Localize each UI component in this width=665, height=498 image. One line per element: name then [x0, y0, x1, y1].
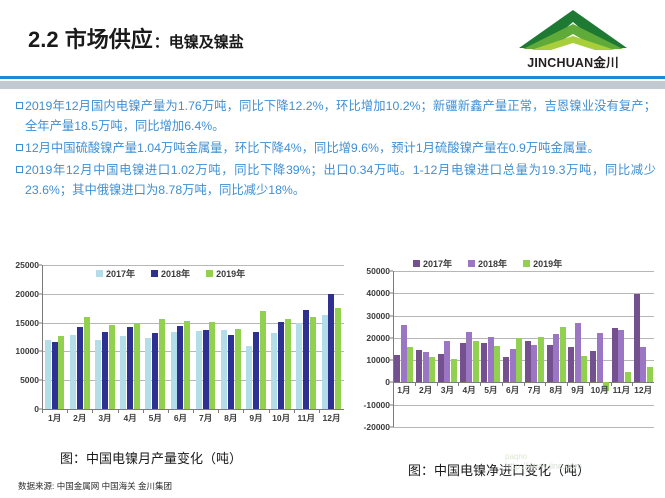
bullet-square-icon: [16, 144, 23, 151]
y-axis-tick-label: 15000: [15, 318, 39, 328]
bar: [401, 325, 407, 382]
bar: [510, 349, 516, 383]
bar: [303, 310, 309, 409]
plot-area: 0500010000150002000025000: [42, 265, 344, 409]
bar: [625, 372, 631, 382]
jinchuan-logo: JINCHUAN金川: [503, 8, 643, 70]
y-axis-tick-label: 20000: [15, 289, 39, 299]
data-source-note: 数据来源: 中国金属网 中国海关 金川集团: [18, 480, 172, 492]
bar: [184, 321, 190, 409]
x-axis-tick-label: 6月: [502, 384, 524, 396]
chart-legend: 2017年2018年2019年: [413, 257, 562, 270]
y-axis-tick-label: 50000: [366, 266, 390, 276]
x-axis-tick-label: 6月: [168, 412, 193, 424]
legend-item: 2018年: [151, 267, 190, 280]
bar: [278, 322, 284, 409]
bar: [152, 333, 158, 409]
plot-area: -20000-1000001000020000300004000050000: [393, 271, 654, 427]
y-axis-tick-label: 25000: [15, 260, 39, 270]
x-axis-tick-label: 8月: [218, 412, 243, 424]
bar: [438, 354, 444, 382]
bar: [460, 343, 466, 383]
bar: [177, 326, 183, 409]
bullet-text: 12月中国硫酸镍产量1.04万吨金属量，环比下降4%，同比增9.6%，预计1月硫…: [25, 138, 600, 158]
bullet-text: 2019年12月中国电镍进口1.02万吨，同比下降39%；出口0.34万吨。1-…: [25, 160, 656, 200]
x-axis-tick-label: 10月: [269, 412, 294, 424]
bar: [102, 332, 108, 409]
bar: [310, 317, 316, 409]
y-axis-line: [393, 271, 394, 427]
bullet-square-icon: [16, 166, 23, 173]
y-axis-tick-label: -10000: [364, 400, 390, 410]
x-axis-tick-label: 10月: [589, 384, 611, 396]
y-axis-tick-label: 5000: [20, 375, 39, 385]
page-title-main: 2.2 市场供应: [28, 22, 153, 54]
bullet-text: 2019年12月国内电镍产量为1.76万吨，同比下降12.2%，环比增加10.2…: [25, 96, 656, 136]
gridline: [393, 405, 654, 406]
legend-item: 2017年: [413, 257, 452, 270]
bar: [109, 325, 115, 409]
page-title: 2.2 市场供应 ：电镍及镍盐: [28, 22, 244, 54]
bar: [58, 336, 64, 409]
x-axis-tick-label: 4月: [118, 412, 143, 424]
bullet-square-icon: [16, 102, 23, 109]
bar: [525, 341, 531, 383]
bar: [296, 323, 302, 409]
gridline: [393, 293, 654, 294]
caption-production: 图：中国电镍月产量变化（吨）: [60, 448, 242, 467]
slide-header: 2.2 市场供应 ：电镍及镍盐 JINCHUAN金川: [0, 0, 665, 78]
legend-swatch-icon: [413, 260, 420, 267]
bar: [228, 335, 234, 409]
charts-area: 2017年2018年2019年0500010000150002000025000…: [0, 255, 665, 445]
x-axis-tick-label: 1月: [42, 412, 67, 424]
bar: [590, 351, 596, 382]
x-axis-labels: 1月2月3月4月5月6月7月8月9月10月11月12月: [42, 412, 344, 424]
x-axis-tick-label: 5月: [143, 412, 168, 424]
legend-swatch-icon: [151, 270, 158, 277]
bar: [159, 319, 165, 409]
legend-swatch-icon: [206, 270, 213, 277]
bar: [481, 343, 487, 382]
y-axis-tick-label: -20000: [364, 422, 390, 432]
bar: [95, 340, 101, 409]
x-axis-tick-label: 9月: [567, 384, 589, 396]
bar: [394, 355, 400, 383]
bar: [271, 333, 277, 409]
bar: [612, 328, 618, 382]
x-axis-tick-label: 12月: [319, 412, 344, 424]
x-axis-tick-label: 12月: [632, 384, 654, 396]
x-axis-tick-label: 8月: [545, 384, 567, 396]
legend-item: 2018年: [468, 257, 507, 270]
bar: [45, 340, 51, 409]
gridline: [42, 294, 344, 295]
bar: [134, 323, 140, 409]
chart-net-import: 2017年2018年2019年-20000-100000100002000030…: [355, 255, 660, 445]
bar: [451, 359, 457, 382]
bar: [52, 342, 58, 409]
bar: [647, 367, 653, 382]
bar: [547, 345, 553, 382]
bar: [444, 341, 450, 383]
bar: [560, 327, 566, 382]
x-axis-tick-label: 11月: [294, 412, 319, 424]
x-axis-tick-label: 5月: [480, 384, 502, 396]
x-axis-tick-label: 2月: [67, 412, 92, 424]
y-axis-tick-label: 10000: [15, 346, 39, 356]
y-axis-tick-label: 20000: [366, 333, 390, 343]
bar: [494, 346, 500, 383]
bar: [260, 311, 266, 409]
bar: [640, 347, 646, 383]
logo-mountain-icon: [503, 8, 643, 54]
x-axis-labels: 1月2月3月4月5月6月7月8月9月10月11月12月: [393, 384, 654, 396]
bar: [429, 357, 435, 383]
bar: [246, 346, 252, 409]
bar: [538, 337, 544, 382]
bar: [145, 338, 151, 409]
legend-item: 2017年: [96, 267, 135, 280]
page-title-sub: ：电镍及镍盐: [154, 31, 244, 52]
y-axis-line: [42, 265, 43, 409]
bar: [473, 341, 479, 382]
bar: [285, 319, 291, 409]
gridline: [393, 271, 654, 272]
bar: [203, 330, 209, 409]
bar: [235, 329, 241, 409]
logo-wordmark-en: JINCHUAN: [527, 56, 593, 70]
legend-item: 2019年: [523, 257, 562, 270]
bar: [84, 317, 90, 409]
legend-label: 2019年: [216, 267, 245, 280]
y-axis-tick-label: 10000: [366, 355, 390, 365]
bar: [466, 332, 472, 383]
gridline: [42, 265, 344, 266]
header-rule-grey: [0, 81, 665, 89]
x-axis-tick-label: 11月: [611, 384, 633, 396]
legend-label: 2019年: [533, 257, 562, 270]
bar: [553, 334, 559, 383]
bar: [70, 335, 76, 409]
bar: [581, 356, 587, 383]
bullet-list: 2019年12月国内电镍产量为1.76万吨，同比下降12.2%，环比增加10.2…: [16, 96, 656, 202]
x-axis-tick-label: 7月: [524, 384, 546, 396]
y-axis-tick-label: 30000: [366, 311, 390, 321]
bar: [503, 357, 509, 382]
x-axis-tick-label: 9月: [243, 412, 268, 424]
legend-swatch-icon: [523, 260, 530, 267]
legend-label: 2017年: [423, 257, 452, 270]
logo-wordmark-cn: 金川: [593, 56, 618, 70]
y-axis-tick-label: 40000: [366, 288, 390, 298]
bar: [77, 327, 83, 409]
bullet-item: 2019年12月国内电镍产量为1.76万吨，同比下降12.2%，环比增加10.2…: [16, 96, 656, 136]
bar: [618, 330, 624, 382]
legend-item: 2019年: [206, 267, 245, 280]
chart-captions: 图：中国电镍月产量变化（吨） 图：中国电镍净进口变化（吨）: [0, 448, 665, 478]
bullet-item: 2019年12月中国电镍进口1.02万吨，同比下降39%；出口0.34万吨。1-…: [16, 160, 656, 200]
chart-production: 2017年2018年2019年0500010000150002000025000…: [8, 255, 348, 445]
bar: [335, 308, 341, 409]
bar: [120, 336, 126, 409]
bar: [328, 294, 334, 409]
bar: [568, 347, 574, 383]
legend-swatch-icon: [96, 270, 103, 277]
x-axis-tick-label: 1月: [393, 384, 415, 396]
bar: [634, 294, 640, 383]
bar: [127, 327, 133, 409]
bar: [221, 330, 227, 409]
logo-wordmark: JINCHUAN金川: [503, 52, 643, 71]
bar: [597, 333, 603, 383]
caption-net-import: 图：中国电镍净进口变化（吨）: [408, 460, 590, 479]
header-rule-blue: [0, 76, 665, 79]
x-axis-tick-label: 4月: [458, 384, 480, 396]
bar: [322, 315, 328, 409]
x-axis-tick-label: 7月: [193, 412, 218, 424]
legend-swatch-icon: [468, 260, 475, 267]
chart-legend: 2017年2018年2019年: [96, 267, 245, 280]
bar: [416, 350, 422, 382]
x-axis-tick-label: 2月: [415, 384, 437, 396]
bar: [423, 352, 429, 382]
legend-label: 2018年: [161, 267, 190, 280]
legend-label: 2018年: [478, 257, 507, 270]
bar: [171, 332, 177, 409]
legend-label: 2017年: [106, 267, 135, 280]
x-axis-tick-label: 3月: [92, 412, 117, 424]
bar: [488, 337, 494, 383]
bar: [253, 332, 259, 409]
x-axis-tick-label: 3月: [437, 384, 459, 396]
bar: [531, 345, 537, 383]
bar: [575, 323, 581, 383]
bar: [516, 338, 522, 383]
bar: [196, 331, 202, 409]
slide: 2.2 市场供应 ：电镍及镍盐 JINCHUAN金川 2019年12月国内电镍产…: [0, 0, 665, 498]
bar: [407, 347, 413, 383]
gridline: [393, 316, 654, 317]
bullet-item: 12月中国硫酸镍产量1.04万吨金属量，环比下降4%，同比增9.6%，预计1月硫…: [16, 138, 656, 158]
bar: [209, 322, 215, 409]
gridline: [393, 427, 654, 428]
